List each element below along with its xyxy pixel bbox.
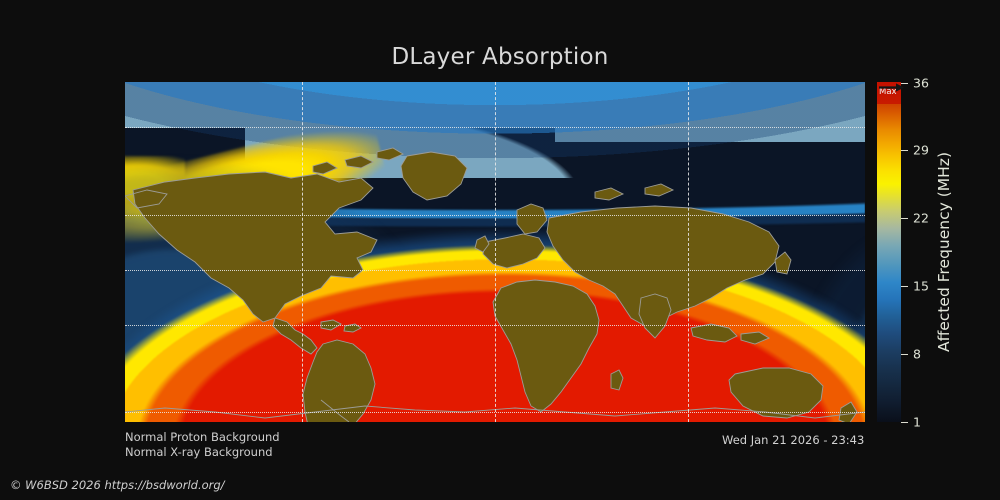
colorbar-tick [901,150,908,151]
colorbar-tick [901,422,908,423]
gridline-vertical [495,82,496,422]
colorbar-tick-label: 36 [913,76,929,91]
gridline-horizontal [125,215,865,216]
colorbar-tick-label: 22 [913,211,929,226]
gridline-horizontal [125,270,865,271]
gridline-horizontal [125,127,865,128]
world-map[interactable] [125,82,865,422]
colorbar-tick-label: 29 [913,143,929,158]
colorbar-tick [901,218,908,219]
proton-background-status: Normal Proton Background [125,430,280,444]
colorbar-axis-title: Affected Frequency (MHz) [932,82,956,422]
xray-background-status: Normal X-ray Background [125,445,273,459]
timestamp: Wed Jan 21 2026 - 23:43 [722,433,864,447]
gridline-horizontal [125,325,865,326]
colorbar-tick-label: 8 [913,347,921,362]
colorbar-tick [901,354,908,355]
map-gridlines [125,82,865,422]
colorbar-tick-label: 1 [913,415,921,430]
gridline-vertical [302,82,303,422]
app-root: DLayer Absorption [0,0,1000,500]
colorbar-tick-label: 15 [913,279,929,294]
gridline-vertical [688,82,689,422]
page-title: DLayer Absorption [0,44,1000,70]
gridline-horizontal [125,412,865,413]
colorbar-tick [901,286,908,287]
colorbar[interactable]: Max 1 8 15 22 29 36 [877,82,901,422]
colorbar-gradient [877,82,901,422]
colorbar-axis-title-text: Affected Frequency (MHz) [935,152,953,352]
colorbar-tick [901,83,908,84]
credit-text: © W6BSD 2026 https://bsdworld.org/ [10,478,225,492]
